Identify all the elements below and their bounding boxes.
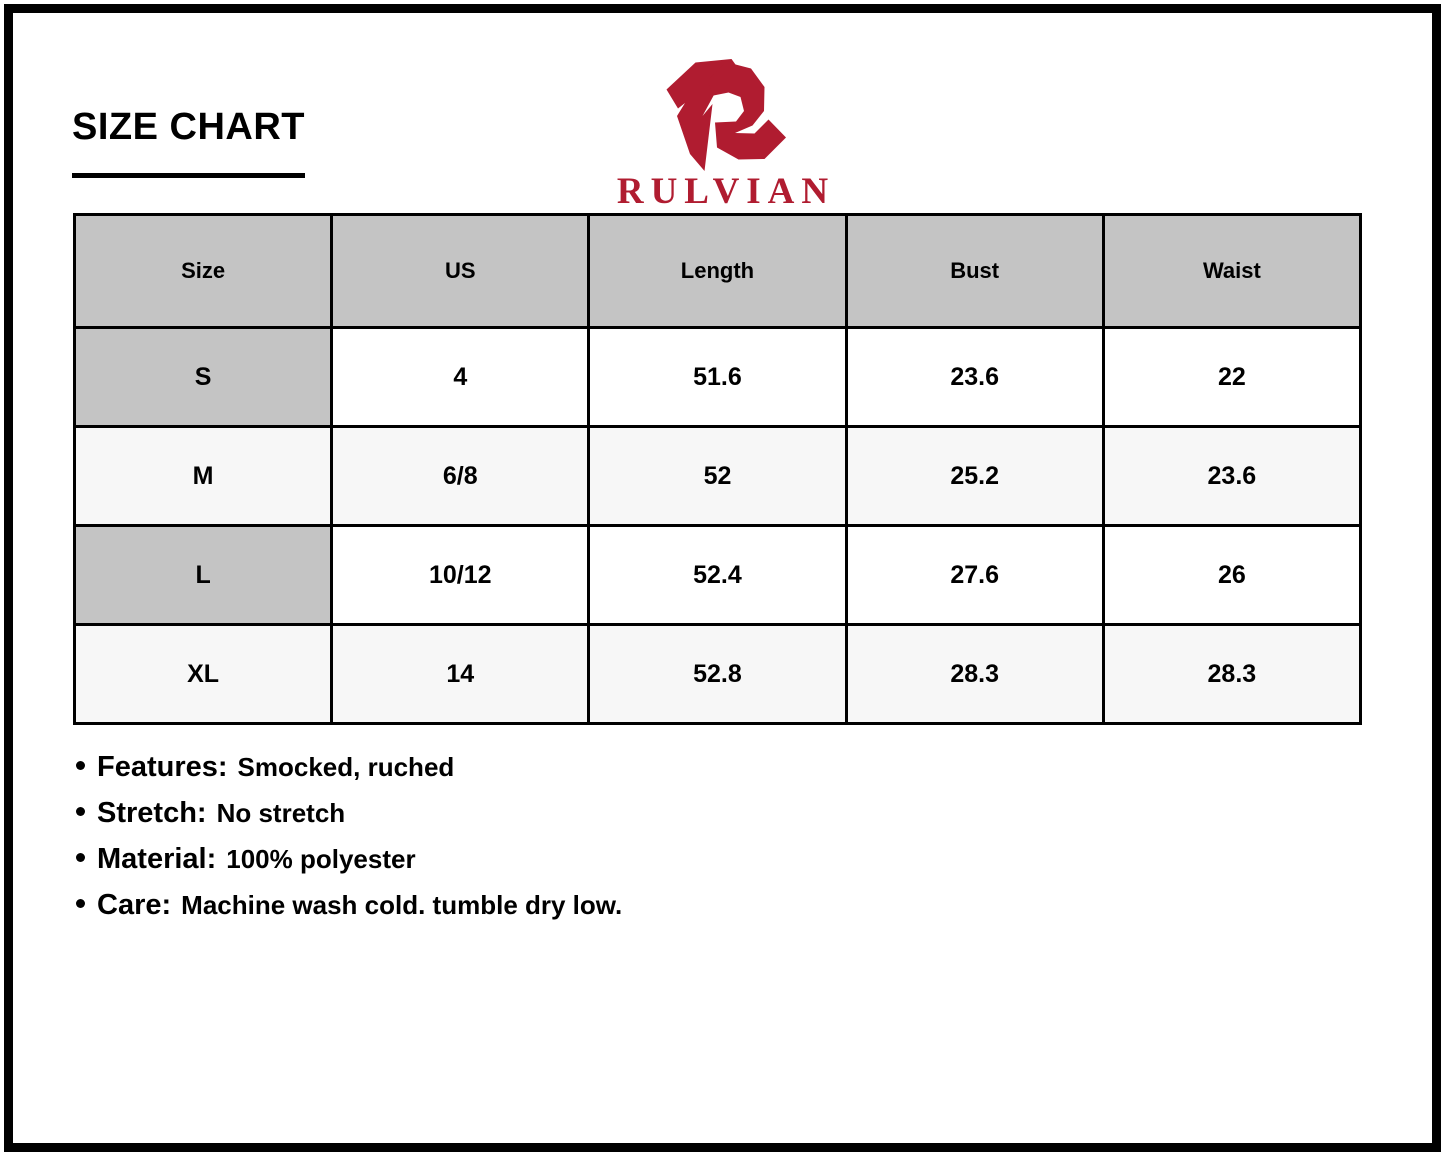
header: SIZE CHART RULVIAN <box>13 13 1432 218</box>
cell-waist: 22 <box>1103 328 1360 427</box>
cell-size: XL <box>75 625 332 724</box>
spec-label-stretch: Stretch: <box>97 797 207 830</box>
rulvian-r-logo-icon <box>654 59 792 171</box>
cell-size: S <box>75 328 332 427</box>
list-item: Material: 100% polyester <box>76 843 622 876</box>
bullet-icon <box>76 807 85 816</box>
size-chart-page: SIZE CHART RULVIAN Size <box>0 0 1445 1156</box>
table-row: XL 14 52.8 28.3 28.3 <box>75 625 1361 724</box>
spec-value-features: Smocked, ruched <box>238 752 455 783</box>
cell-length: 52.8 <box>589 625 846 724</box>
page-border-frame: SIZE CHART RULVIAN Size <box>4 4 1441 1152</box>
product-spec-list: Features: Smocked, ruched Stretch: No st… <box>76 751 622 935</box>
cell-length: 51.6 <box>589 328 846 427</box>
size-table-container: Size US Length Bust Waist S 4 51.6 23.6 <box>73 213 1362 725</box>
bullet-icon <box>76 899 85 908</box>
spec-value-stretch: No stretch <box>217 798 346 829</box>
table-body: S 4 51.6 23.6 22 M 6/8 52 25.2 23.6 <box>75 328 1361 724</box>
spec-label-material: Material: <box>97 843 216 876</box>
table-row: S 4 51.6 23.6 22 <box>75 328 1361 427</box>
cell-bust: 25.2 <box>846 427 1103 526</box>
list-item: Stretch: No stretch <box>76 797 622 830</box>
page-content: SIZE CHART RULVIAN Size <box>13 13 1432 1143</box>
cell-us: 14 <box>332 625 589 724</box>
cell-waist: 28.3 <box>1103 625 1360 724</box>
cell-us: 6/8 <box>332 427 589 526</box>
table-header: Size US Length Bust Waist <box>75 215 1361 328</box>
table-header-row: Size US Length Bust Waist <box>75 215 1361 328</box>
spec-label-features: Features: <box>97 751 228 784</box>
list-item: Features: Smocked, ruched <box>76 751 622 784</box>
spec-value-material: 100% polyester <box>226 844 415 875</box>
bullet-icon <box>76 853 85 862</box>
column-header-bust: Bust <box>846 215 1103 328</box>
cell-us: 4 <box>332 328 589 427</box>
table-row: L 10/12 52.4 27.6 26 <box>75 526 1361 625</box>
list-item: Care: Machine wash cold. tumble dry low. <box>76 889 622 922</box>
brand-logo: RULVIAN <box>13 59 1432 210</box>
bullet-icon <box>76 761 85 770</box>
cell-length: 52.4 <box>589 526 846 625</box>
brand-name: RULVIAN <box>610 173 835 210</box>
column-header-length: Length <box>589 215 846 328</box>
column-header-size: Size <box>75 215 332 328</box>
cell-waist: 26 <box>1103 526 1360 625</box>
spec-label-care: Care: <box>97 889 171 922</box>
cell-bust: 27.6 <box>846 526 1103 625</box>
column-header-waist: Waist <box>1103 215 1360 328</box>
cell-size: L <box>75 526 332 625</box>
spec-value-care: Machine wash cold. tumble dry low. <box>181 890 622 921</box>
column-header-us: US <box>332 215 589 328</box>
cell-us: 10/12 <box>332 526 589 625</box>
cell-length: 52 <box>589 427 846 526</box>
cell-waist: 23.6 <box>1103 427 1360 526</box>
cell-bust: 28.3 <box>846 625 1103 724</box>
cell-bust: 23.6 <box>846 328 1103 427</box>
size-chart-table: Size US Length Bust Waist S 4 51.6 23.6 <box>73 213 1362 725</box>
cell-size: M <box>75 427 332 526</box>
table-row: M 6/8 52 25.2 23.6 <box>75 427 1361 526</box>
